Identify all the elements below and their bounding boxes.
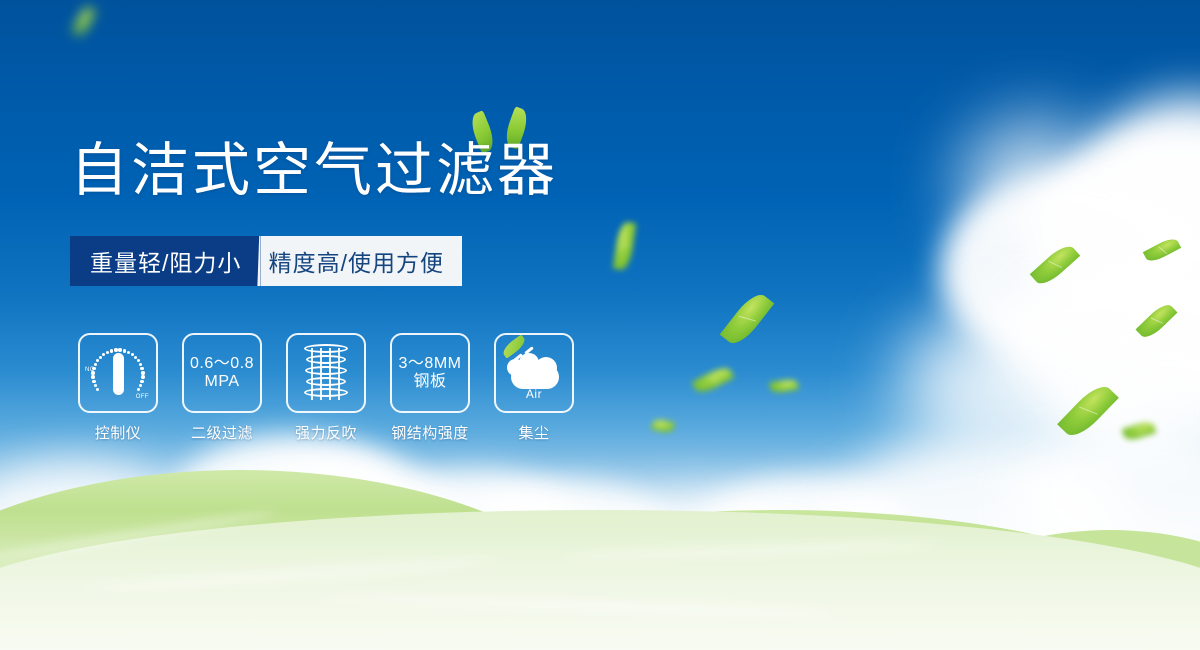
gauge-tick (140, 380, 143, 383)
steel-text-icon: 3〜8MM 钢板 (399, 355, 462, 392)
feature-item-dust-collection[interactable]: Air 集尘 (494, 333, 574, 443)
filter-ring (305, 366, 347, 375)
gauge-tick (94, 384, 97, 387)
filter-ring (304, 344, 348, 353)
gauge-tick (110, 349, 113, 352)
gauge-tick (137, 388, 140, 391)
gauge-tick (140, 367, 143, 370)
subtitle-left: 重量轻/阻力小 (70, 236, 257, 286)
gauge-tick (141, 375, 144, 378)
cloud-body (511, 365, 559, 389)
gauge-tick (137, 359, 140, 362)
feature-label: 钢结构强度 (391, 422, 469, 443)
feature-label: 强力反吹 (295, 422, 357, 443)
feature-icon-box (286, 333, 366, 413)
feature-icon-box: Air (494, 333, 574, 413)
gauge-tick (139, 363, 142, 366)
cloud-air-icon: Air (503, 347, 565, 399)
feature-item-control-meter[interactable]: NO OFF 控制仪 (78, 333, 158, 443)
page-title: 自洁式空气过滤器 (70, 142, 558, 200)
gauge-tick (96, 388, 99, 391)
feature-icon-box: 3〜8MM 钢板 (390, 333, 470, 413)
filter-ring (306, 355, 346, 364)
pressure-range: 0.6〜0.8 (190, 355, 254, 373)
gauge-tick (94, 363, 97, 366)
steel-material: 钢板 (399, 373, 462, 391)
feature-icon-box: 0.6〜0.8 MPA (182, 333, 262, 413)
gauge-tick (91, 371, 94, 374)
feature-label: 控制仪 (95, 422, 142, 443)
subtitle-divider (257, 236, 260, 286)
gauge-tick (99, 356, 102, 359)
pressure-unit: MPA (190, 373, 254, 391)
gauge-tick (139, 384, 142, 387)
gauge-off-label: OFF (136, 394, 149, 400)
feature-list: NO OFF 控制仪 0.6〜0.8 MPA 二级过滤 (78, 333, 574, 443)
feature-label: 集尘 (518, 422, 549, 443)
gauge-icon: NO OFF (86, 341, 150, 405)
banner-content: 自洁式空气过滤器 重量轻/阻力小 精度高/使用方便 NO OFF 控制仪 (70, 0, 710, 650)
gauge-tick (96, 359, 99, 362)
gauge-tick (118, 348, 121, 351)
gauge-tick (106, 351, 109, 354)
filter-ring (304, 388, 348, 397)
gauge-tick (92, 380, 95, 383)
air-label: Air (503, 387, 565, 401)
gauge-tick (123, 349, 126, 352)
filter-stack-icon (298, 342, 354, 404)
filter-ring (306, 377, 346, 386)
gauge-tick (141, 371, 144, 374)
feature-item-two-stage-filter[interactable]: 0.6〜0.8 MPA 二级过滤 (182, 333, 262, 443)
feature-item-steel-strength[interactable]: 3〜8MM 钢板 钢结构强度 (390, 333, 470, 443)
gauge-switch (113, 353, 124, 395)
feature-item-strong-blowback[interactable]: 强力反吹 (286, 333, 366, 443)
steel-thickness: 3〜8MM (399, 355, 462, 373)
gauge-tick (91, 375, 94, 378)
feature-label: 二级过滤 (191, 422, 253, 443)
pressure-text-icon: 0.6〜0.8 MPA (190, 355, 254, 392)
subtitle-bar: 重量轻/阻力小 精度高/使用方便 (70, 236, 462, 286)
gauge-tick (127, 351, 130, 354)
subtitle-right: 精度高/使用方便 (261, 236, 462, 286)
feature-icon-box: NO OFF (78, 333, 158, 413)
product-banner: 自洁式空气过滤器 重量轻/阻力小 精度高/使用方便 NO OFF 控制仪 (0, 0, 1200, 650)
gauge-tick (114, 348, 117, 351)
gauge-tick (102, 353, 105, 356)
gauge-tick (92, 367, 95, 370)
